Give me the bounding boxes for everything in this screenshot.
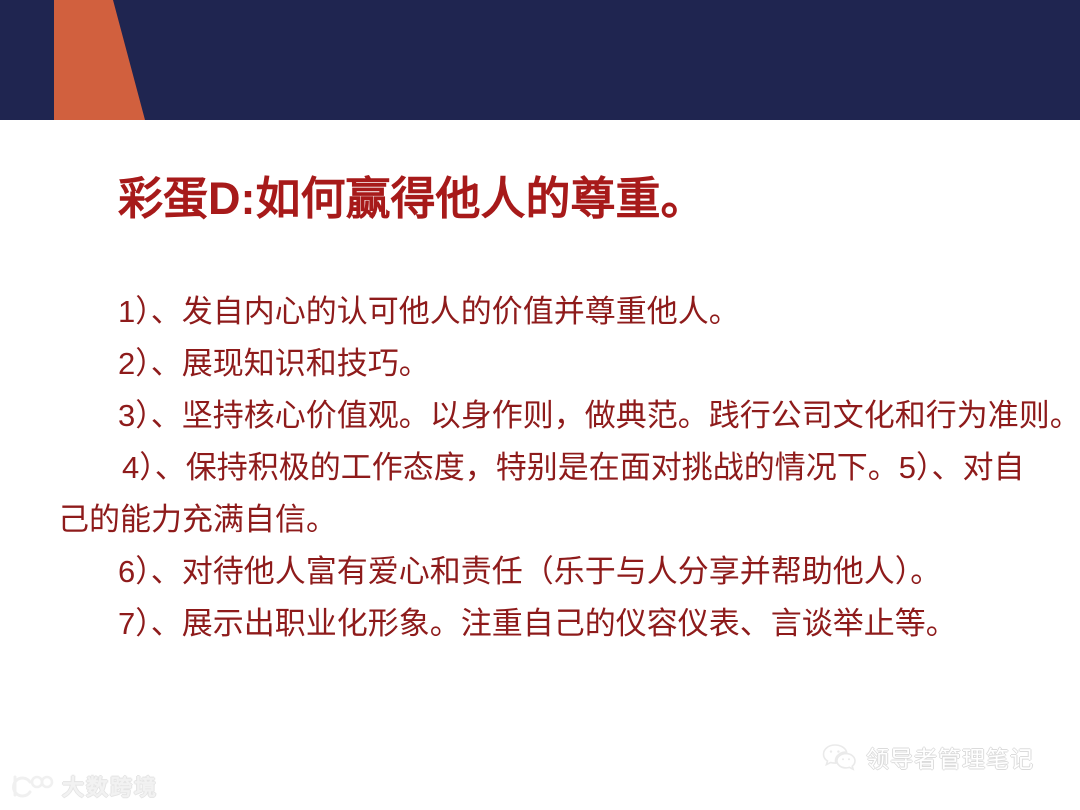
body-line-2: 2）、展现知识和技巧。	[58, 338, 1068, 390]
wechat-icon	[822, 743, 856, 771]
body-line-7: 7）、展示出职业化形象。注重自己的仪容仪表、言谈举止等。	[58, 598, 1068, 650]
orange-accent-shape-icon	[0, 0, 200, 120]
watermark-right-label: 领导者管理笔记	[866, 740, 1034, 774]
body-line-6: 6）、对待他人富有爱心和责任（乐于与人分享并帮助他人）。	[58, 546, 1068, 598]
body-content: 1）、发自内心的认可他人的价值并尊重他人。 2）、展现知识和技巧。 3）、坚持核…	[58, 286, 1068, 650]
watermark-bottom-left: 大数跨境	[10, 770, 158, 802]
presentation-slide: 彩蛋D:如何赢得他人的尊重。 1）、发自内心的认可他人的价值并尊重他人。 2）、…	[0, 0, 1080, 810]
watermark-left-label: 大数跨境	[62, 770, 158, 802]
body-line-1: 1）、发自内心的认可他人的价值并尊重他人。	[58, 286, 1068, 338]
dashu-kuajing-logo-icon	[10, 773, 54, 799]
body-line-5: 己的能力充满自信。	[58, 494, 1068, 546]
watermark-bottom-right: 领导者管理笔记	[822, 740, 1034, 774]
slide-header-band	[0, 0, 1080, 120]
page-title: 彩蛋D:如何赢得他人的尊重。	[118, 173, 705, 225]
body-line-3: 3）、坚持核心价值观。以身作则，做典范。践行公司文化和行为准则。	[58, 390, 1068, 442]
body-line-4: 4）、保持积极的工作态度，特别是在面对挑战的情况下。5）、对自	[58, 442, 1068, 494]
